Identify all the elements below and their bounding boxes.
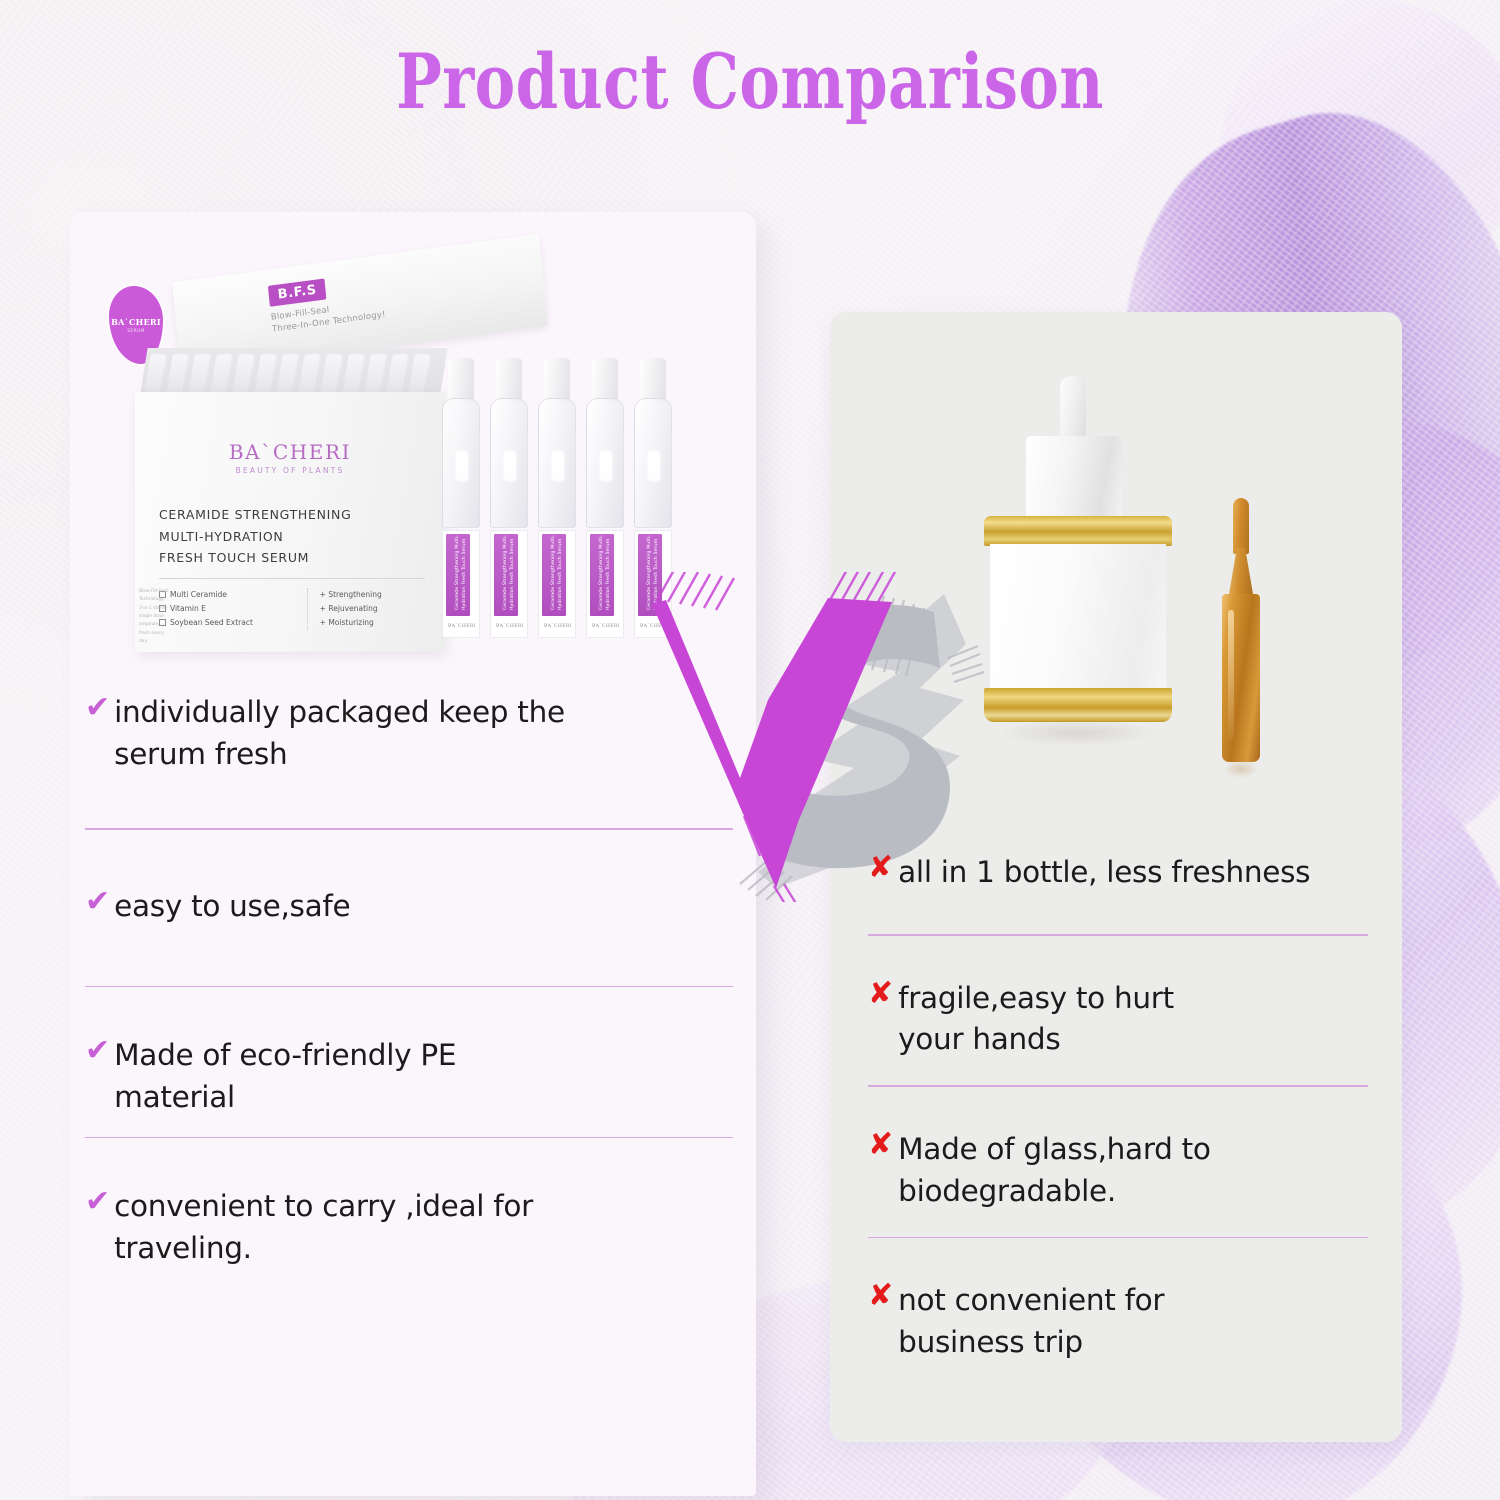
ampoule-body [634,398,672,528]
list-item: ✘ all in 1 bottle, less freshness [868,852,1368,914]
list-item: ✔ easy to use,safe [85,830,733,938]
ampoule-brand: BA`CHERI [496,624,524,629]
ampoule-body [490,398,528,528]
list-item-label: convenient to carry ,ideal for traveling… [114,1186,554,1270]
list-item: ✘ Made of glass,hard to biodegradable. [868,1087,1368,1213]
check-icon: ✔ [85,886,110,918]
cross-icon: ✘ [868,852,893,884]
glass-ampoule-tip [1233,498,1249,554]
bfs-badge: B.F.S [268,278,327,306]
ampoule: Ceramide Strengthening Multi-Hydration F… [440,358,482,638]
ampoule-body [538,398,576,528]
cross-icon: ✘ [868,978,893,1010]
ingredient-row: Soybean Seed Extract [159,616,291,630]
benefit-label: + Strengthening [320,588,425,602]
ampoule-brand: BA`CHERI [592,624,620,629]
product-name-line-2: MULTI-HYDRATION [159,526,425,548]
glass-ampoule [1216,498,1266,778]
ampoule-label-text: Ceramide Strengthening Multi-Hydration F… [454,532,468,610]
list-item-label: all in 1 bottle, less freshness [898,852,1310,894]
ingredient-row: Vitamin E [159,602,291,616]
left-feature-list: ✔ individually packaged keep the serum f… [85,692,733,1270]
check-icon: ✔ [85,1035,110,1067]
ampoule: Ceramide Strengthening Multi-Hydration F… [488,358,530,638]
bottle-shadow [1000,720,1156,746]
right-product-image [960,370,1340,790]
ampoule-label-band: Ceramide Strengthening Multi-Hydration F… [446,534,470,616]
list-item: ✔ individually packaged keep the serum f… [85,692,733,800]
list-item: ✘ fragile,easy to hurt your hands [868,936,1368,1062]
ingredient-row: Multi Ceramide [159,588,291,602]
ingredient-label: Multi Ceramide [170,590,227,599]
ampoule-label-band: Ceramide Strengthening Multi-Hydration F… [542,534,566,616]
ampoule-body [586,398,624,528]
benefit-label: + Moisturizing [320,616,425,630]
ampoule-strip: Ceramide Strengthening Multi-Hydration F… [440,358,674,638]
check-icon: ✔ [85,692,110,724]
bottle-gold-top-band [984,516,1172,546]
glass-ampoule-taper [1228,548,1254,600]
product-brand-tagline: BEAUTY OF PLANTS [135,466,445,475]
list-item: ✔ Made of eco-friendly PE material [85,987,733,1119]
ampoule-label-text: Ceramide Strengthening Multi-Hydration F… [550,532,564,610]
list-item: ✔ convenient to carry ,ideal for traveli… [85,1138,733,1270]
dropper-bottle [978,376,1178,776]
dropper-collar [1026,436,1122,522]
brand-sticker-sublabel: SERUM [127,329,145,334]
check-icon: ✔ [85,1186,110,1218]
ampoule-label: Ceramide Strengthening Multi-Hydration F… [538,530,576,638]
list-item-label: Made of eco-friendly PE material [114,1035,514,1119]
ampoule-neck [448,358,474,402]
ampoule-label-band: Ceramide Strengthening Multi-Hydration F… [494,534,518,616]
ingredient-label: Vitamin E [170,604,206,613]
product-benefits: + Strengthening + Rejuvenating + Moistur… [307,588,425,630]
list-item-label: Made of glass,hard to biodegradable. [898,1129,1258,1213]
brand-sticker-label: BA`CHERI [111,317,161,327]
cross-icon: ✘ [868,1129,893,1161]
right-feature-list: ✘ all in 1 bottle, less freshness ✘ frag… [868,852,1368,1364]
bottle-gold-bottom-band [984,688,1172,722]
list-item: ✘ not convenient for business trip [868,1238,1368,1364]
ampoule-neck [592,358,618,402]
page-title: Product Comparison [150,44,1350,120]
list-item-label: fragile,easy to hurt your hands [898,978,1228,1062]
ampoule-body [442,398,480,528]
product-box-side-text: Blow-Fill-Seal Technology, 3-in-1 steril… [139,588,169,647]
left-product-image: B.F.S Blow-Fill-SealThree-In-One Technol… [95,240,655,670]
bottle-label [990,544,1166,692]
ampoule: Ceramide Strengthening Multi-Hydration F… [536,358,578,638]
list-item-label: individually packaged keep the serum fre… [114,692,584,776]
ampoule-label-band: Ceramide Strengthening Multi-Hydration F… [590,534,614,616]
ampoule-neck [496,358,522,402]
ampoule-neck [640,358,666,402]
ampoule-label: Ceramide Strengthening Multi-Hydration F… [586,530,624,638]
ingredient-label: Soybean Seed Extract [170,618,253,627]
ampoule-label-text: Ceramide Strengthening Multi-Hydration F… [598,532,612,610]
product-name-line-3: FRESH TOUCH SERUM [159,547,425,569]
ampoule: Ceramide Strengthening Multi-Hydration F… [584,358,626,638]
cross-icon: ✘ [868,1280,893,1312]
ampoule-brand: BA`CHERI [448,624,476,629]
product-box-rule [159,578,425,579]
glass-ampoule-vial [1222,594,1260,762]
product-box-front: BA`CHERI BEAUTY OF PLANTS CERAMIDE STREN… [135,392,445,652]
glass-ampoule-shadow [1223,760,1259,778]
product-name: CERAMIDE STRENGTHENING MULTI-HYDRATION F… [159,504,425,569]
list-item-label: easy to use,safe [114,886,350,928]
product-name-line-1: CERAMIDE STRENGTHENING [159,504,425,526]
ampoule-label-text: Ceramide Strengthening Multi-Hydration F… [502,532,516,610]
product-ingredients: Multi Ceramide Vitamin E Soybean Seed Ex… [159,588,291,630]
product-brand-name: BA`CHERI [135,440,445,464]
ampoule-brand: BA`CHERI [544,624,572,629]
ampoule-label: Ceramide Strengthening Multi-Hydration F… [490,530,528,638]
ampoule-neck [544,358,570,402]
list-item-label: not convenient for business trip [898,1280,1208,1364]
ampoule-label: Ceramide Strengthening Multi-Hydration F… [442,530,480,638]
benefit-label: + Rejuvenating [320,602,425,616]
product-box-features: Multi Ceramide Vitamin E Soybean Seed Ex… [159,588,425,630]
